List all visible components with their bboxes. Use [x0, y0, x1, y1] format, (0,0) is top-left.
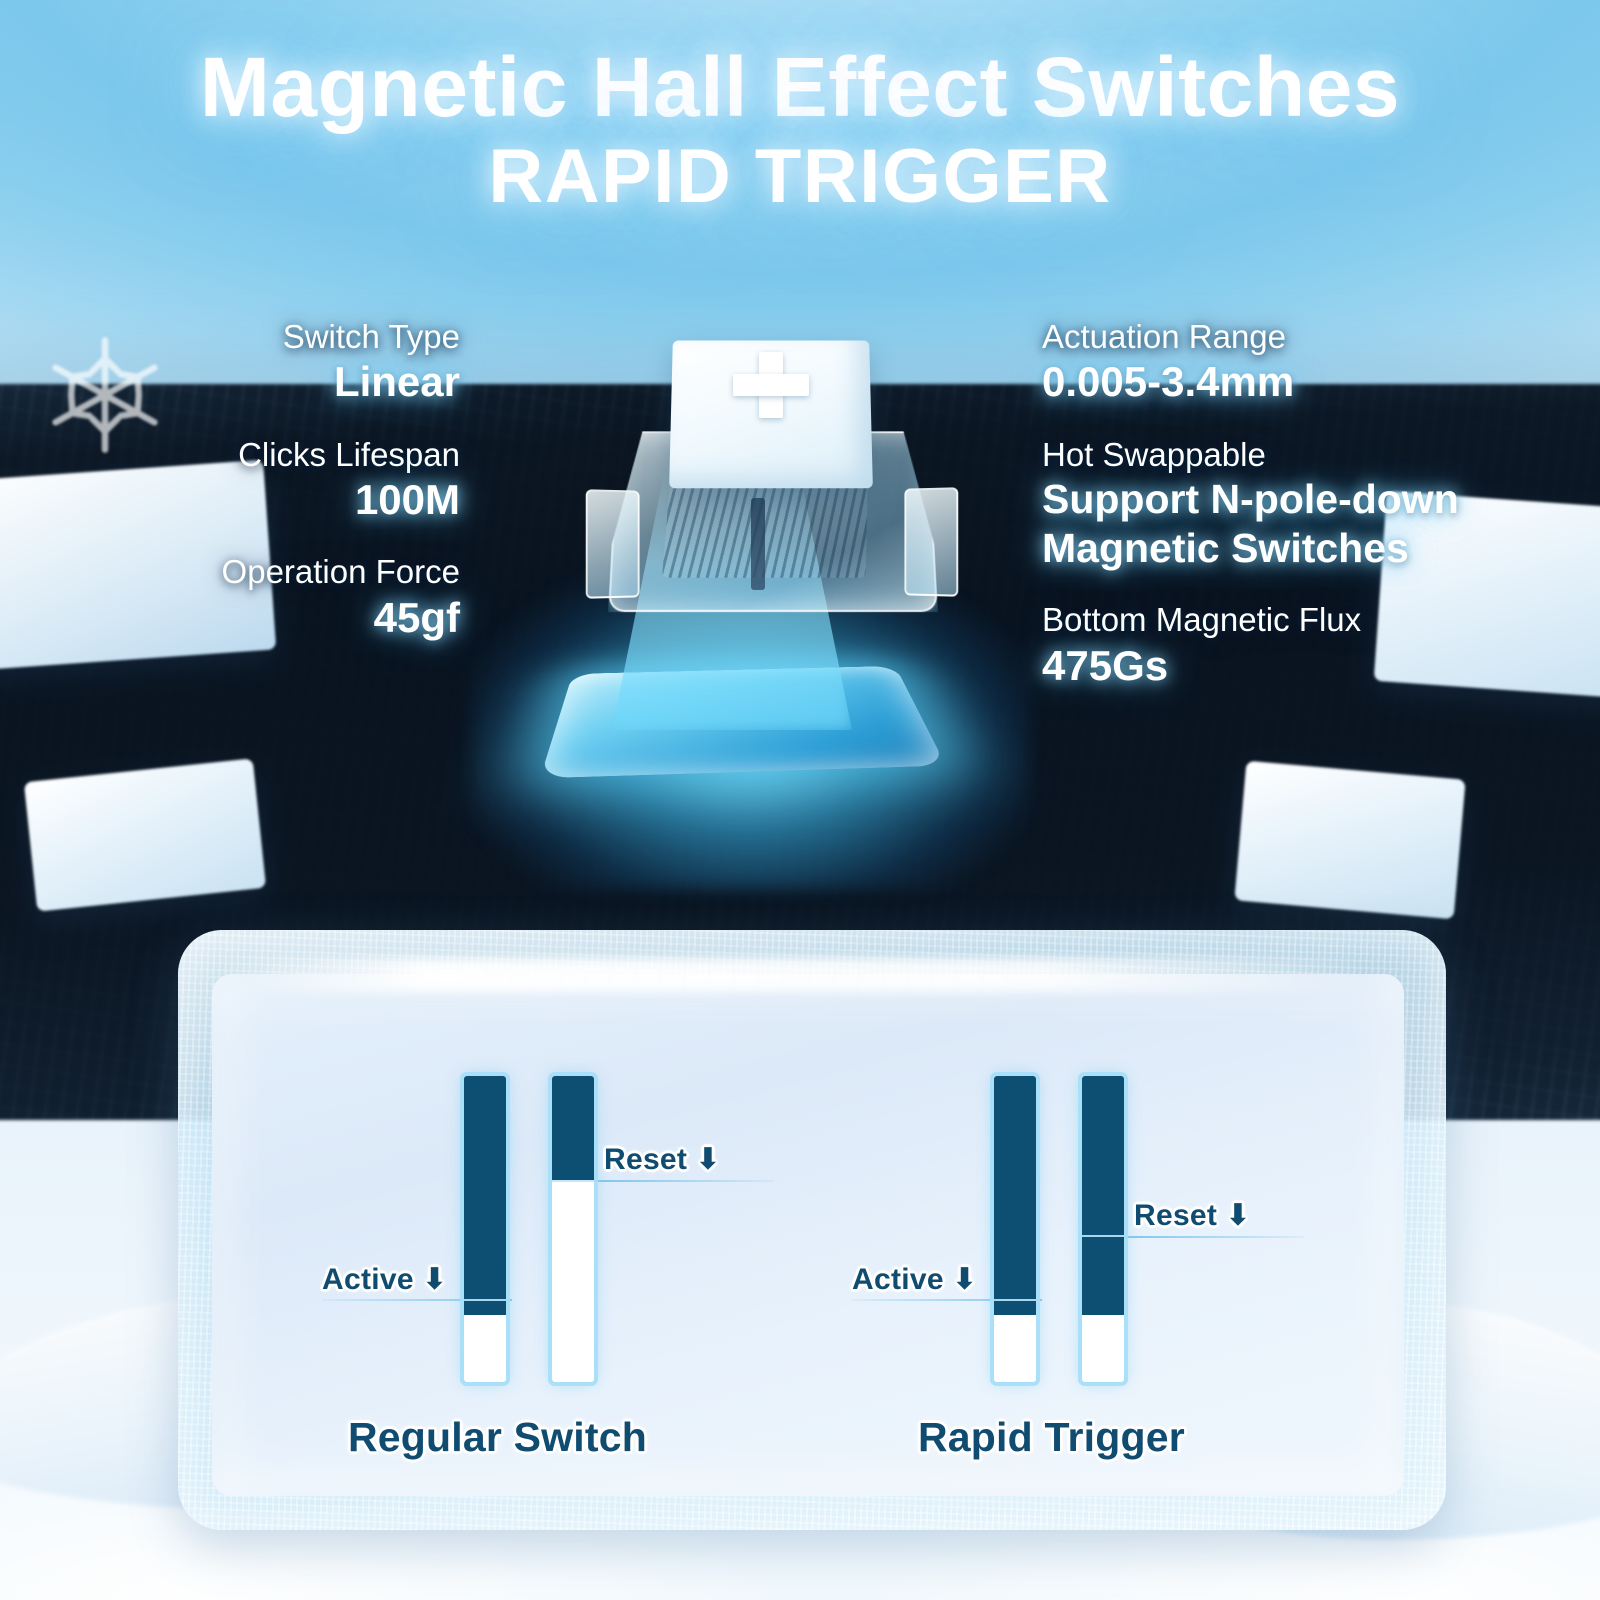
- diagram-group-rapid-trigger: Active⬇ Reset⬇ Rapid Trigger: [830, 1076, 1260, 1396]
- reset-rule-line: [1124, 1236, 1304, 1238]
- reset-label: Reset⬇: [604, 1142, 721, 1177]
- down-arrow-icon: ⬇: [695, 1143, 720, 1176]
- rapid-trigger-comparison-diagram: Active⬇ Reset⬇ Regular Switch: [0, 0, 1600, 1600]
- product-feature-poster: Magnetic Hall Effect Switches RAPID TRIG…: [0, 0, 1600, 1600]
- travel-bar-reset: [1082, 1076, 1124, 1382]
- diagram-group-regular-switch: Active⬇ Reset⬇ Regular Switch: [300, 1076, 730, 1396]
- travel-bar-reset: [552, 1076, 594, 1382]
- travel-bar-active: [994, 1076, 1036, 1382]
- active-label-text: Active: [322, 1263, 414, 1296]
- down-arrow-icon: ⬇: [952, 1263, 977, 1296]
- reset-label-text: Reset: [604, 1143, 687, 1176]
- travel-bar-active: [464, 1076, 506, 1382]
- active-label: Active⬇: [322, 1262, 447, 1297]
- down-arrow-icon: ⬇: [1225, 1199, 1250, 1232]
- bar-pair: Active⬇ Reset⬇: [830, 1076, 1260, 1396]
- active-label: Active⬇: [852, 1262, 977, 1297]
- active-label-text: Active: [852, 1263, 944, 1296]
- down-arrow-icon: ⬇: [422, 1263, 447, 1296]
- reset-label: Reset⬇: [1134, 1198, 1251, 1233]
- bar-pair: Active⬇ Reset⬇: [300, 1076, 730, 1396]
- group-caption: Rapid Trigger: [918, 1414, 1185, 1461]
- reset-label-text: Reset: [1134, 1199, 1217, 1232]
- group-caption: Regular Switch: [348, 1414, 647, 1461]
- reset-rule-line: [594, 1180, 774, 1182]
